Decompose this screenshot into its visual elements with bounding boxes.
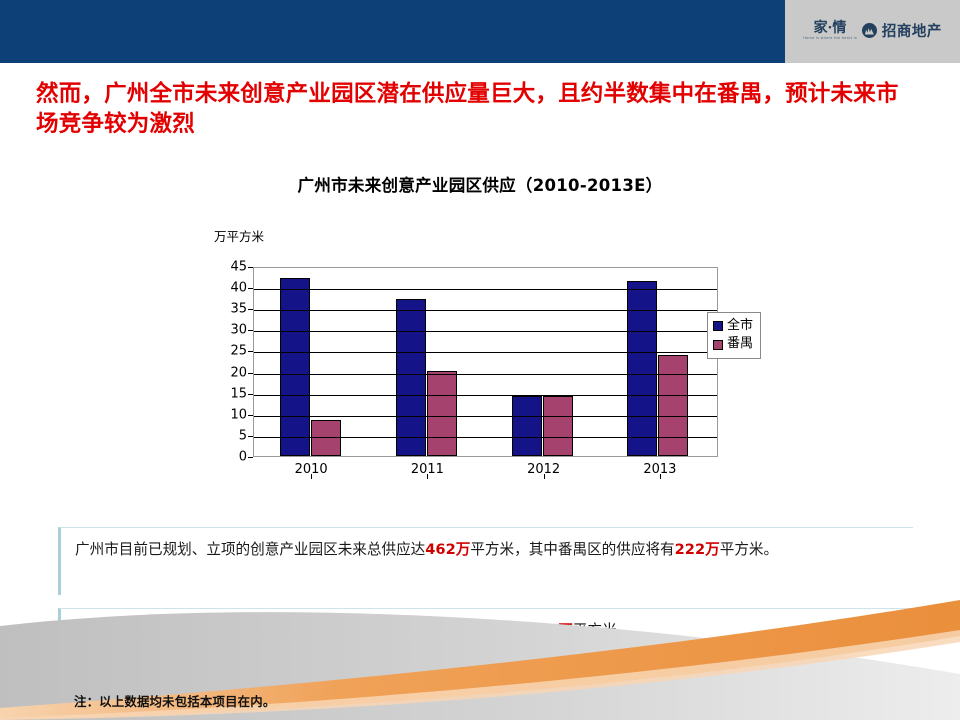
x-axis-tick-mark: [311, 474, 312, 479]
bar-番禺-2011: [427, 371, 457, 456]
callout-text: 平方米，其中番禺区: [407, 622, 538, 639]
y-axis-tick-label: 30: [203, 323, 247, 338]
chart-title: 广州市未来创意产业园区供应（2010-2013E）: [0, 172, 960, 196]
callout-total-supply: 广州市目前已规划、立项的创意产业园区未来总供应达462万平方米，其中番禺区的供应…: [58, 527, 913, 595]
x-axis-tick-mark: [660, 474, 661, 479]
y-axis-tick-mark: [248, 436, 253, 437]
x-axis-tick-label: 2011: [369, 462, 485, 477]
footnote: 注：以上数据均未包括本项目在内。: [74, 692, 275, 710]
legend-label: 全市: [727, 317, 753, 335]
x-axis-tick-label: 2010: [253, 462, 369, 477]
gridline: [254, 352, 717, 353]
gridline: [254, 289, 717, 290]
y-axis-tick-label: 10: [203, 407, 247, 422]
bar-番禺-2013: [658, 355, 688, 456]
y-axis-tick-mark: [248, 330, 253, 331]
y-axis-tick-label: 40: [203, 281, 247, 296]
y-axis-tick-mark: [248, 457, 253, 458]
x-axis-tick-label: 2012: [486, 462, 602, 477]
bar-groups: [254, 268, 717, 456]
company-logo: 家·情 Home is where the heart is 招商地产: [803, 20, 942, 41]
circular-mountain-mark-icon: [862, 23, 877, 38]
gridline: [254, 416, 717, 417]
supply-bar-chart: 454035302520151050 2010201120122013: [215, 262, 735, 474]
bar-全市-2010: [280, 278, 310, 456]
bar-group: [601, 268, 717, 456]
slide-headline: 然而，广州全市未来创意产业园区潜在供应量巨大，且约半数集中在番禺，预计未来市场竞…: [36, 80, 916, 140]
legend-swatch: [713, 340, 723, 350]
callout-five-year-forecast: 预计未来5年广州市创意产业园供应总量将达135万平方米，其中番禺区67万平方米。: [58, 608, 913, 658]
gridline: [254, 331, 717, 332]
y-axis-tick-mark: [248, 309, 253, 310]
highlighted-figure: 67万: [538, 622, 573, 639]
callout-text: 平方米。: [573, 622, 631, 639]
logo-tagline: Home is where the heart is: [803, 37, 857, 41]
x-axis-tick-label: 2013: [602, 462, 718, 477]
bar-全市-2012: [512, 396, 542, 456]
callout-text: 广州市目前已规划、立项的创意产业园区未来总供应达: [75, 541, 425, 558]
callout-text: 平方米，其中番禺区的供应将有: [470, 541, 674, 558]
highlighted-figure: 135万: [362, 622, 407, 639]
header-logo-panel: 家·情 Home is where the heart is 招商地产: [785, 0, 960, 63]
legend-label: 番禺: [727, 335, 753, 353]
gridline: [254, 395, 717, 396]
chart-plot-area: [253, 267, 718, 457]
y-axis-tick-label: 0: [203, 450, 247, 465]
bar-全市-2013: [627, 281, 657, 456]
callout-text: 平方米。: [720, 541, 778, 558]
y-axis-tick-mark: [248, 267, 253, 268]
x-axis-tick-mark: [544, 474, 545, 479]
logo-script-text: 家·情: [814, 21, 847, 35]
legend-swatch: [713, 321, 723, 331]
gridline: [254, 437, 717, 438]
y-axis-tick-mark: [248, 351, 253, 352]
gridline: [254, 310, 717, 311]
y-axis-tick-label: 15: [203, 386, 247, 401]
bar-group: [254, 268, 370, 456]
x-axis-tick-mark: [427, 474, 428, 479]
y-axis-tick-label: 45: [203, 260, 247, 275]
chart-legend: 全市番禺: [707, 312, 761, 359]
header-band: [0, 0, 790, 63]
bar-group: [486, 268, 602, 456]
y-axis-tick-mark: [248, 415, 253, 416]
gridline: [254, 374, 717, 375]
y-axis-unit-label: 万平方米: [214, 226, 264, 245]
logo-brand-text: 招商地产: [882, 20, 942, 41]
highlighted-figure: 462万: [425, 541, 470, 558]
y-axis-tick-mark: [248, 373, 253, 374]
logo-script-block: 家·情 Home is where the heart is: [803, 21, 857, 41]
y-axis-tick-label: 20: [203, 365, 247, 380]
legend-item-番禺: 番禺: [713, 335, 753, 353]
legend-item-全市: 全市: [713, 317, 753, 335]
y-axis-tick-mark: [248, 394, 253, 395]
callout-text: 预计未来5年广州市创意产业园供应总量将达: [75, 622, 362, 639]
y-axis-tick-mark: [248, 288, 253, 289]
highlighted-figure: 222万: [675, 541, 720, 558]
bar-番禺-2012: [543, 396, 573, 456]
bar-group: [370, 268, 486, 456]
bar-全市-2011: [396, 299, 426, 456]
y-axis-tick-label: 35: [203, 302, 247, 317]
y-axis-tick-label: 25: [203, 344, 247, 359]
y-axis-tick-label: 5: [203, 428, 247, 443]
